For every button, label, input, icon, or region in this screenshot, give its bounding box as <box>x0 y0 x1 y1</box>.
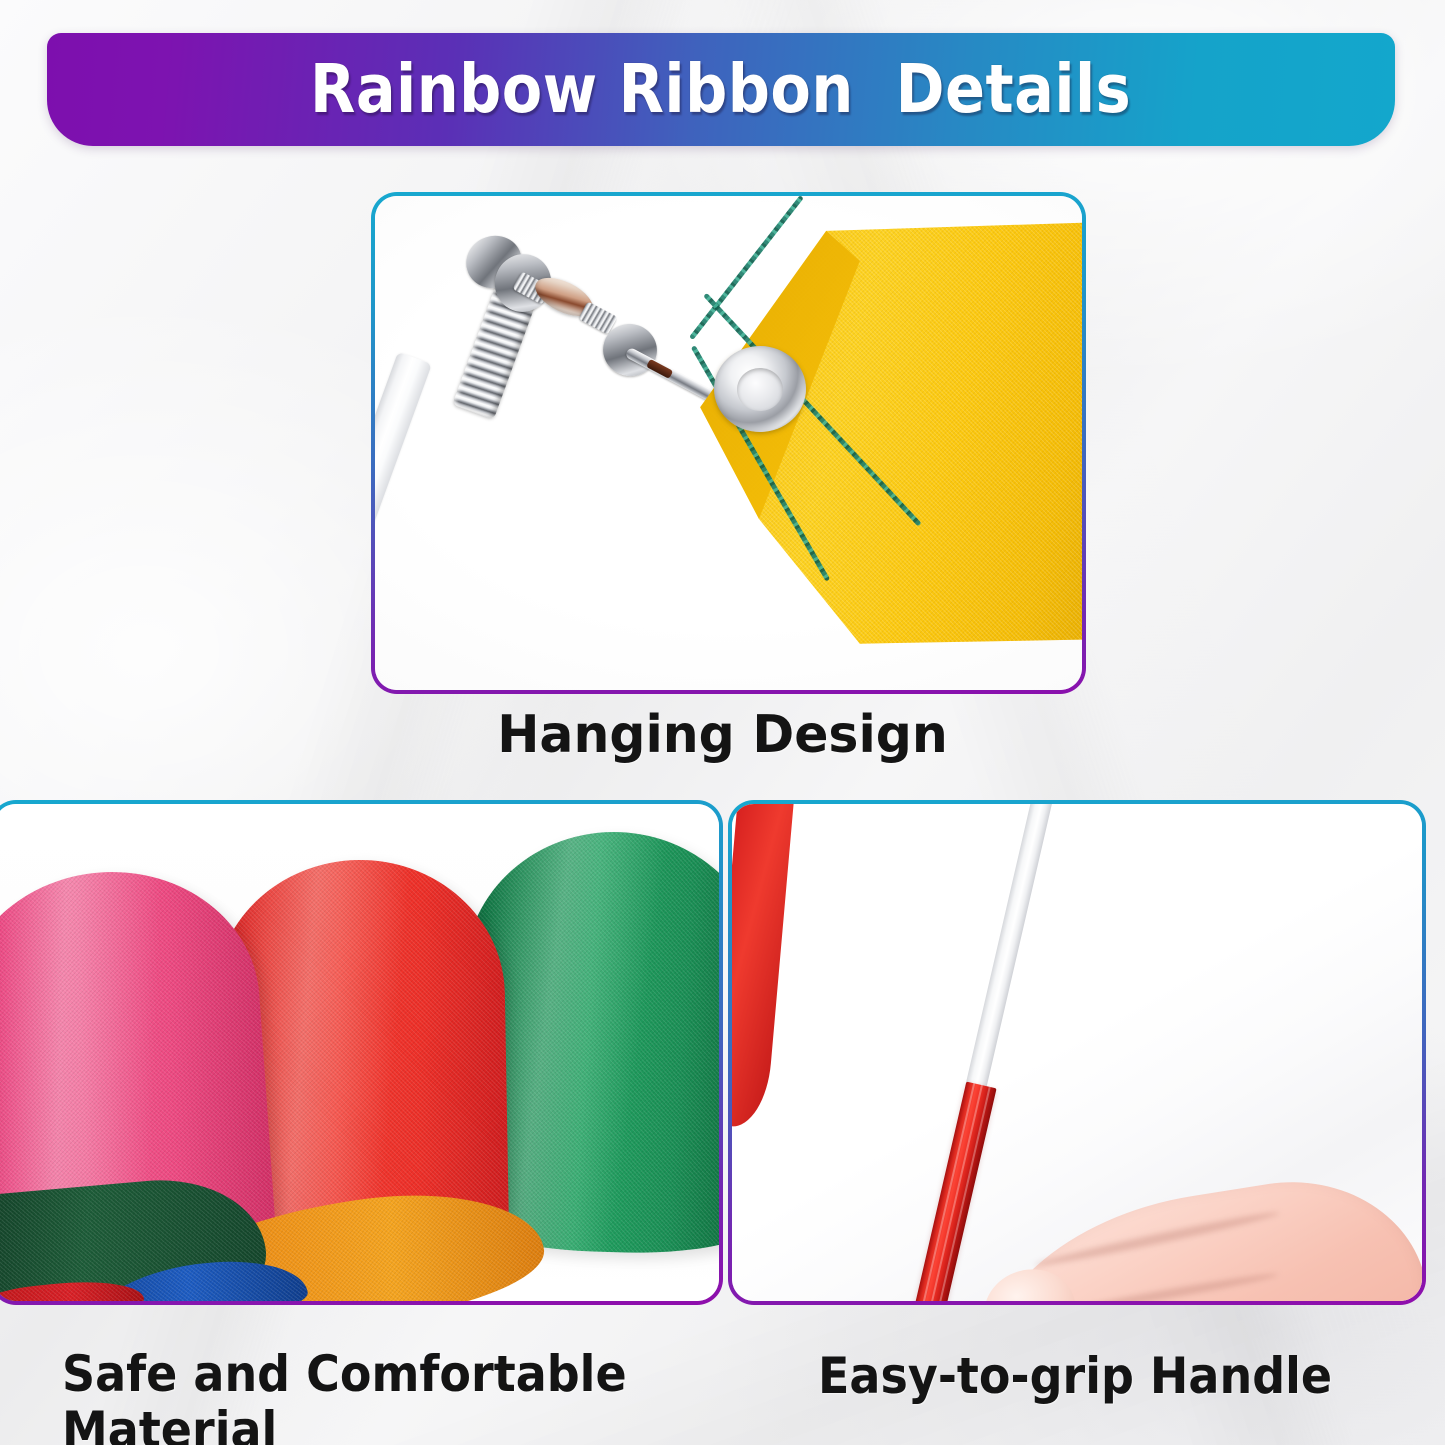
header-banner: Rainbow Ribbon Details <box>47 33 1395 146</box>
wand-shaft-white <box>965 804 1053 1093</box>
panel-easy-grip-handle <box>728 800 1426 1305</box>
panel-safe-material <box>0 800 723 1305</box>
white-rod <box>375 352 432 674</box>
caption-safe-material: Safe and Comfortable Material <box>62 1346 669 1445</box>
ribbon-sliver-red <box>732 804 794 1129</box>
photo-hand-holding-wand <box>732 804 1422 1301</box>
infographic-canvas: Rainbow Ribbon Details <box>0 0 1445 1445</box>
wand-grip-red <box>885 1082 996 1301</box>
metal-grommet <box>714 346 806 432</box>
caption-line-1: Safe and Comfortable <box>62 1346 669 1402</box>
photo-ribbon-bands <box>0 804 719 1301</box>
caption-easy-grip-handle: Easy-to-grip Handle <box>818 1348 1388 1404</box>
panel-hanging-design <box>371 192 1086 694</box>
banner-title: Rainbow Ribbon Details <box>310 56 1131 123</box>
photo-hanging-design <box>375 196 1082 690</box>
photo-frame-safe-material <box>0 804 719 1301</box>
caption-hanging-design: Hanging Design <box>22 706 1424 764</box>
photo-frame-hanging-design <box>375 196 1082 690</box>
photo-frame-easy-grip-handle <box>732 804 1422 1301</box>
caption-line-2: Material <box>62 1402 669 1445</box>
